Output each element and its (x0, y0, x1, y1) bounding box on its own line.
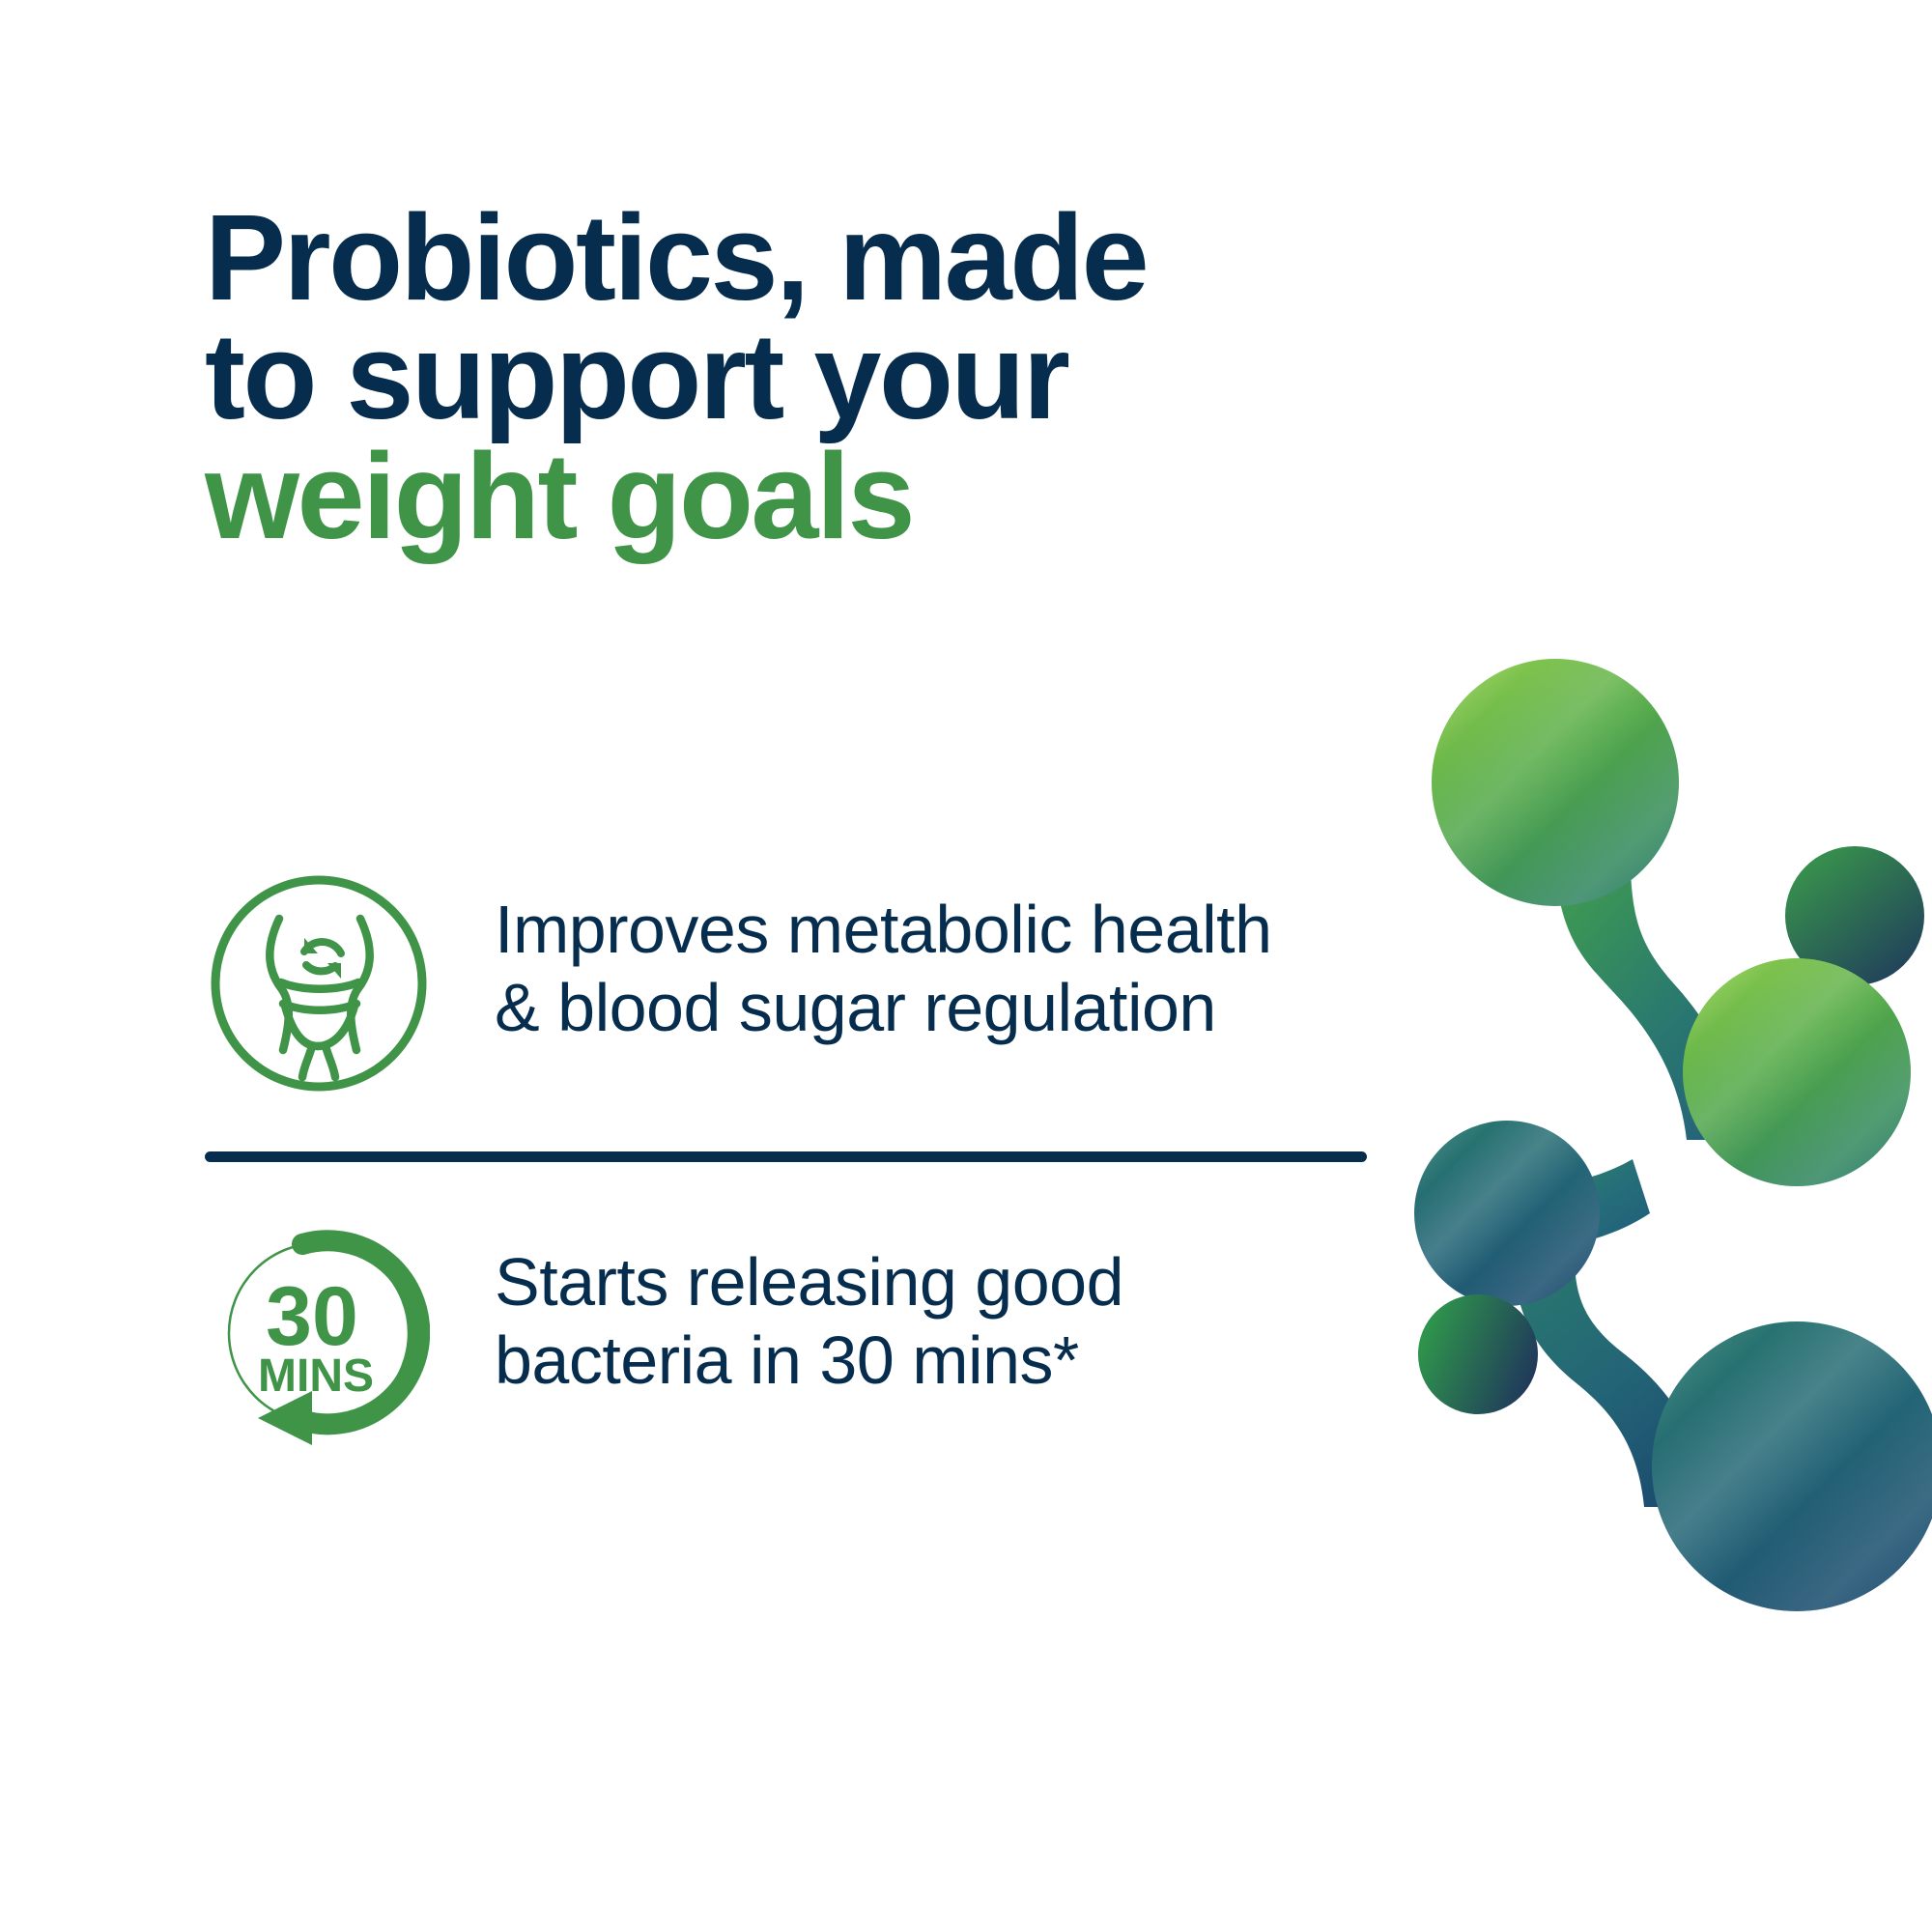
headline-line-1: Probiotics, made (205, 198, 1480, 317)
benefit-text-metabolic: Improves metabolic health & blood sugar … (495, 869, 1325, 1047)
headline-line-3-highlight: weight goals (205, 437, 1480, 555)
benefits-divider (205, 1151, 1367, 1162)
timer-number: 30 (266, 1270, 358, 1363)
page-title: Probiotics, made to support your weight … (205, 198, 1480, 555)
timer-unit: MINS (258, 1350, 374, 1402)
thirty-mins-timer-icon: 30 MINS (205, 1222, 433, 1450)
benefit-text-release-time: Starts releasing good bacteria in 30 min… (495, 1222, 1325, 1400)
molecule-chain-graphic (1391, 638, 1932, 1613)
benefit-item-release-time: 30 MINS Starts releasing good bacteria i… (205, 1222, 1412, 1450)
headline-line-2: to support your (205, 317, 1480, 436)
benefits-list: Improves metabolic health & blood sugar … (205, 869, 1412, 1450)
body-metabolism-icon (205, 869, 433, 1097)
promo-banner: Probiotics, made to support your weight … (0, 0, 1932, 1932)
benefit-item-metabolic: Improves metabolic health & blood sugar … (205, 869, 1412, 1097)
